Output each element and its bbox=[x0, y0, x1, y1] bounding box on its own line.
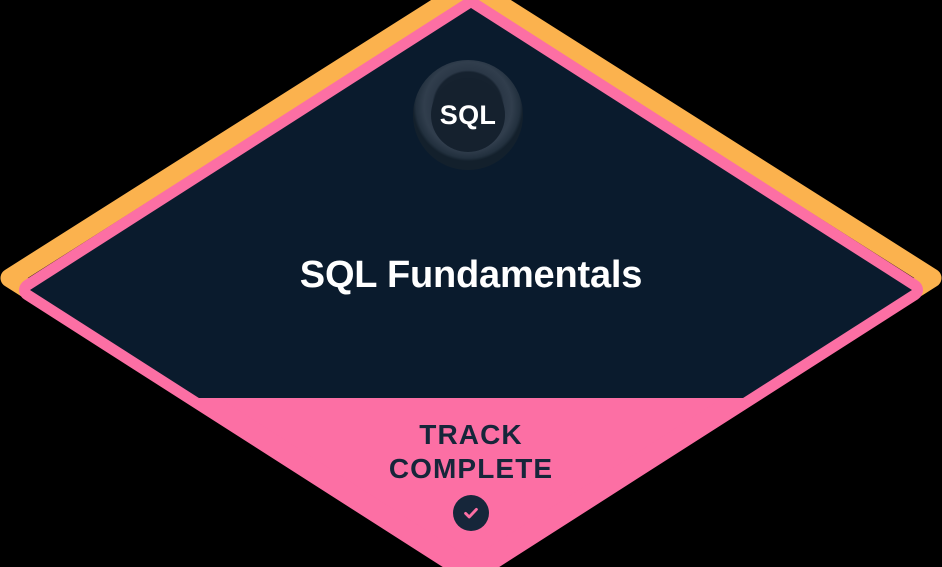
status-line-track: TRACK bbox=[0, 418, 942, 452]
track-badge: SQL SQL Fundamentals TRACK COMPLETE bbox=[0, 0, 942, 567]
emblem-label: SQL bbox=[440, 102, 496, 129]
status-line-complete: COMPLETE bbox=[0, 452, 942, 486]
page-title: SQL Fundamentals bbox=[0, 254, 942, 298]
emblem-inner-disc: SQL bbox=[431, 78, 505, 152]
sql-circle-emblem: SQL bbox=[413, 60, 523, 170]
check-icon bbox=[453, 495, 489, 531]
status-badge: TRACK COMPLETE bbox=[0, 418, 942, 531]
